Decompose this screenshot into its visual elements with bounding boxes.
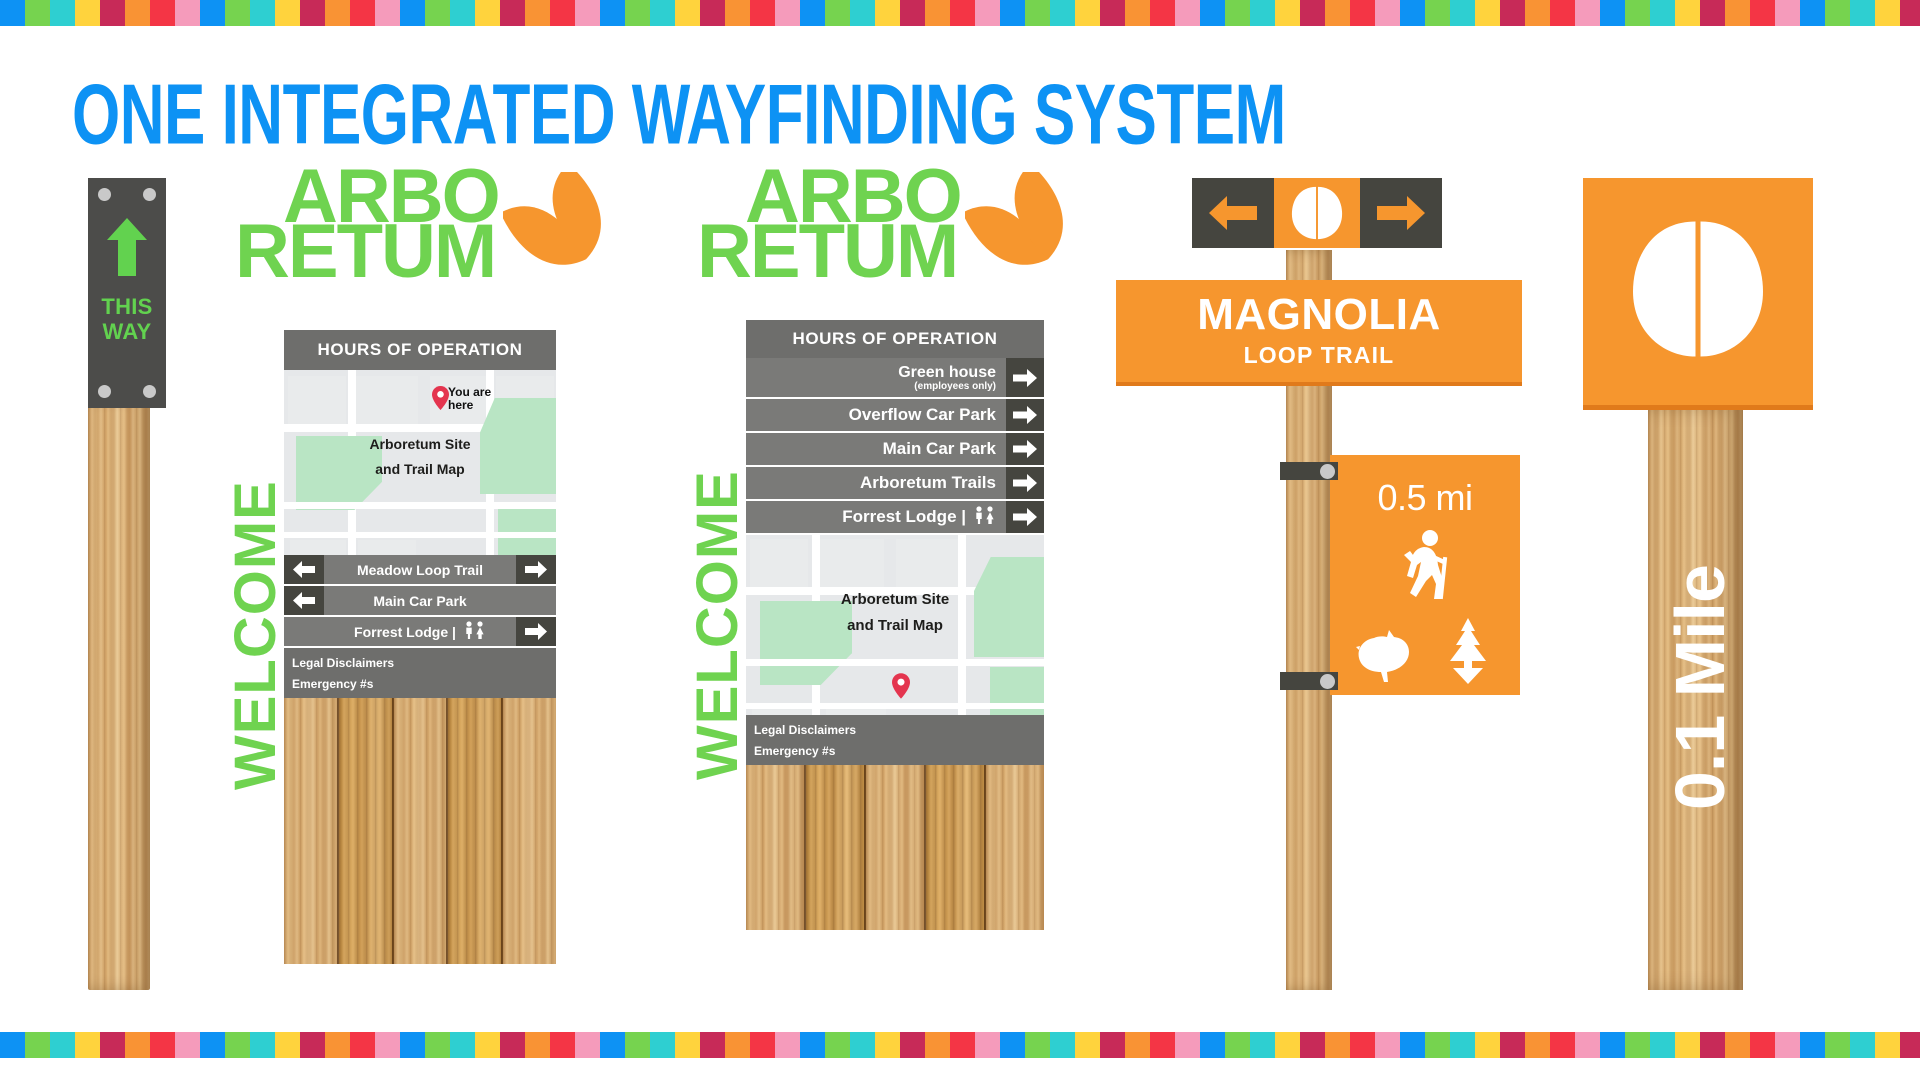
stripe-segment — [1450, 1032, 1475, 1058]
stripe-segment — [1875, 1032, 1900, 1058]
bolt-icon — [143, 188, 156, 201]
stripe-segment — [300, 1032, 325, 1058]
direction-list: Meadow Loop Trail Main Car Park Forre — [284, 555, 556, 648]
kiosk-b-panel: HOURS OF OPERATION Green house (employee… — [746, 320, 1044, 930]
welcome-vertical-text: WELCOME — [232, 310, 280, 790]
stripe-segment — [1300, 1032, 1325, 1058]
arrow-right-icon[interactable] — [1006, 433, 1044, 465]
stripe-segment — [1325, 1032, 1350, 1058]
arrow-right-icon[interactable] — [1006, 467, 1044, 499]
arrow-left-icon[interactable] — [284, 555, 324, 584]
stripe-segment — [650, 1032, 675, 1058]
you-are-here-line2: here — [448, 398, 473, 412]
stripe-segment — [1050, 1032, 1075, 1058]
bolt-icon — [143, 385, 156, 398]
stripe-segment — [975, 1032, 1000, 1058]
wood-plank-base — [746, 765, 1044, 930]
wood-post — [88, 398, 150, 990]
restroom-icon — [464, 621, 486, 642]
stripe-segment — [1375, 1032, 1400, 1058]
stripe-segment — [1750, 1032, 1775, 1058]
stripe-segment — [250, 1032, 275, 1058]
stripe-segment — [1425, 1032, 1450, 1058]
stripe-segment — [1025, 1032, 1050, 1058]
direction-row[interactable]: Forrest Lodge | — [284, 617, 556, 648]
stripe-segment — [50, 1032, 75, 1058]
stripe-segment — [1825, 1032, 1850, 1058]
stripe-segment — [400, 1032, 425, 1058]
kiosk-a-panel: HOURS OF OPERATION — [284, 330, 556, 964]
magnolia-subtitle: LOOP TRAIL — [1244, 342, 1395, 369]
direction-label: Forrest Lodge | — [842, 507, 966, 527]
stripe-segment — [1125, 1032, 1150, 1058]
stripe-segment — [1075, 1032, 1100, 1058]
stripe-segment — [700, 1032, 725, 1058]
stripe-segment — [425, 1032, 450, 1058]
stripe-segment — [675, 1032, 700, 1058]
stripe-segment — [1850, 1032, 1875, 1058]
direction-row[interactable]: Main Car Park — [284, 586, 556, 617]
leaf-mark-icon — [503, 172, 615, 272]
stripe-segment — [1100, 1032, 1125, 1058]
bolt-icon — [98, 188, 111, 201]
distance-vertical-text: 0.1 Mile — [1660, 520, 1740, 810]
map-pin-icon — [432, 386, 449, 415]
bolt-icon — [98, 385, 111, 398]
stripe-segment — [1900, 1032, 1920, 1058]
pine-tree-icon — [1442, 618, 1494, 689]
stripe-segment — [500, 1032, 525, 1058]
stripe-segment — [1575, 1032, 1600, 1058]
signage-stage: THIS WAY WELCOME ARBO RETUM HOURS OF OPE… — [0, 0, 1920, 1080]
stripe-segment — [575, 1032, 600, 1058]
arrow-right-icon[interactable] — [516, 617, 556, 646]
stripe-segment — [25, 1032, 50, 1058]
site-map[interactable]: You are here Arboretum Site and Trail Ma… — [284, 370, 556, 555]
hiker-icon — [1394, 529, 1456, 606]
stripe-segment — [1600, 1032, 1625, 1058]
stripe-segment — [225, 1032, 250, 1058]
stripe-segment — [275, 1032, 300, 1058]
stripe-segment — [850, 1032, 875, 1058]
distance-board: 0.5 mi — [1330, 455, 1520, 695]
stripe-segment — [1150, 1032, 1175, 1058]
this-way-panel: THIS WAY — [88, 178, 166, 408]
stripe-segment — [350, 1032, 375, 1058]
direction-label: Overflow Car Park — [746, 399, 1006, 431]
direction-row-spacer — [284, 617, 324, 646]
emergency-numbers-label: Emergency #s — [754, 744, 1044, 758]
stripe-segment — [550, 1032, 575, 1058]
magnolia-title: MAGNOLIA — [1197, 293, 1441, 337]
stripe-segment — [125, 1032, 150, 1058]
this-way-label: THIS WAY — [101, 295, 152, 344]
restroom-icon — [974, 506, 996, 529]
stripe-segment — [450, 1032, 475, 1058]
legal-disclaimers-label: Legal Disclaimers — [292, 656, 556, 670]
stripe-segment — [1675, 1032, 1700, 1058]
stripe-segment — [1250, 1032, 1275, 1058]
arboretum-logotype: ARBO RETUM — [745, 170, 961, 279]
logotype-line2: RETUM — [235, 225, 499, 280]
direction-row[interactable]: Overflow Car Park — [746, 399, 1044, 433]
stripe-segment — [625, 1032, 650, 1058]
stripe-segment — [75, 1032, 100, 1058]
you-are-here-label: You are here — [448, 386, 491, 411]
stripe-segment — [1350, 1032, 1375, 1058]
stripe-segment — [1275, 1032, 1300, 1058]
stripe-segment — [1500, 1032, 1525, 1058]
stripe-segment — [375, 1032, 400, 1058]
stripe-segment — [1475, 1032, 1500, 1058]
mount-bracket — [1280, 462, 1338, 480]
stripe-segment — [900, 1032, 925, 1058]
stripe-segment — [175, 1032, 200, 1058]
map-title-line2: and Trail Map — [284, 457, 556, 482]
arrow-right-icon[interactable] — [1006, 399, 1044, 431]
stripe-segment — [1200, 1032, 1225, 1058]
arboretum-logotype: ARBO RETUM — [283, 170, 499, 279]
magnolia-topper — [1192, 178, 1442, 248]
stripe-segment — [475, 1032, 500, 1058]
arrow-left-icon[interactable] — [1192, 178, 1274, 248]
leaf-mark-icon — [965, 172, 1077, 272]
direction-label: Green house — [898, 364, 996, 382]
bottom-stripe-bar — [0, 1032, 1920, 1058]
stripe-segment — [1175, 1032, 1200, 1058]
welcome-vertical-text: WELCOME — [694, 300, 742, 780]
this-way-line1: THIS — [101, 294, 152, 319]
direction-row[interactable]: Arboretum Trails — [746, 467, 1044, 501]
stripe-segment — [1525, 1032, 1550, 1058]
direction-row[interactable]: Main Car Park — [746, 433, 1044, 467]
site-map[interactable]: Arboretum Site and Trail Map — [746, 535, 1044, 715]
wood-plank-base — [284, 698, 556, 964]
hours-header: HOURS OF OPERATION — [284, 330, 556, 370]
stripe-segment — [725, 1032, 750, 1058]
stripe-segment — [750, 1032, 775, 1058]
stripe-segment — [1650, 1032, 1675, 1058]
direction-list: Green house (employees only) Overflow Ca… — [746, 358, 1044, 535]
direction-row[interactable]: Forrest Lodge | — [746, 501, 1044, 535]
map-pin-icon — [892, 673, 910, 704]
stripe-segment — [875, 1032, 900, 1058]
direction-label: Main Car Park — [324, 586, 516, 615]
direction-label: Forrest Lodge | — [354, 624, 456, 640]
stripe-segment — [200, 1032, 225, 1058]
distance-value: 0.5 mi — [1377, 477, 1472, 519]
bird-icon — [1356, 628, 1418, 689]
direction-label: Arboretum Trails — [746, 467, 1006, 499]
direction-row[interactable]: Green house (employees only) — [746, 358, 1044, 399]
stripe-segment — [950, 1032, 975, 1058]
stripe-segment — [1725, 1032, 1750, 1058]
stripe-segment — [1700, 1032, 1725, 1058]
stripe-segment — [1625, 1032, 1650, 1058]
leaf-mark-icon — [1623, 214, 1773, 369]
map-title: Arboretum Site and Trail Map — [284, 432, 556, 481]
arrow-right-icon[interactable] — [1006, 501, 1044, 533]
stripe-segment — [775, 1032, 800, 1058]
stripe-segment — [150, 1032, 175, 1058]
stripe-segment — [925, 1032, 950, 1058]
arrow-right-icon[interactable] — [1006, 358, 1044, 397]
direction-sublabel: (employees only) — [914, 382, 996, 392]
mount-bracket — [1280, 672, 1338, 690]
direction-row[interactable]: Meadow Loop Trail — [284, 555, 556, 586]
arrow-right-icon[interactable] — [516, 555, 556, 584]
logotype-line2: RETUM — [697, 225, 961, 280]
arrow-up-icon — [106, 216, 148, 283]
stripe-segment — [1400, 1032, 1425, 1058]
emergency-numbers-label: Emergency #s — [292, 677, 556, 691]
arrow-right-icon[interactable] — [1360, 178, 1442, 248]
stripe-segment — [1800, 1032, 1825, 1058]
map-title: Arboretum Site and Trail Map — [746, 587, 1044, 640]
legal-block: Legal Disclaimers Emergency #s — [284, 648, 556, 698]
this-way-line2: WAY — [103, 319, 152, 344]
stripe-segment — [600, 1032, 625, 1058]
map-title-line1: Arboretum Site — [284, 432, 556, 457]
direction-row-spacer — [516, 586, 556, 615]
stripe-segment — [0, 1032, 25, 1058]
stripe-segment — [1225, 1032, 1250, 1058]
bolt-icon — [1320, 674, 1335, 689]
map-title-line2: and Trail Map — [746, 613, 1044, 639]
legal-block: Legal Disclaimers Emergency #s — [746, 715, 1044, 765]
direction-label: Meadow Loop Trail — [324, 555, 516, 584]
direction-label: Main Car Park — [746, 433, 1006, 465]
arrow-left-icon[interactable] — [284, 586, 324, 615]
hours-header: HOURS OF OPERATION — [746, 320, 1044, 358]
stripe-segment — [100, 1032, 125, 1058]
stripe-segment — [1000, 1032, 1025, 1058]
stripe-segment — [1775, 1032, 1800, 1058]
leaf-mark-icon — [1274, 178, 1360, 248]
stripe-segment — [325, 1032, 350, 1058]
map-title-line1: Arboretum Site — [746, 587, 1044, 613]
bolt-icon — [1320, 464, 1335, 479]
stripe-segment — [525, 1032, 550, 1058]
legal-disclaimers-label: Legal Disclaimers — [754, 723, 1044, 737]
stripe-segment — [800, 1032, 825, 1058]
logo-board — [1583, 178, 1813, 410]
stripe-segment — [1550, 1032, 1575, 1058]
magnolia-board: MAGNOLIA LOOP TRAIL — [1116, 280, 1522, 386]
stripe-segment — [825, 1032, 850, 1058]
